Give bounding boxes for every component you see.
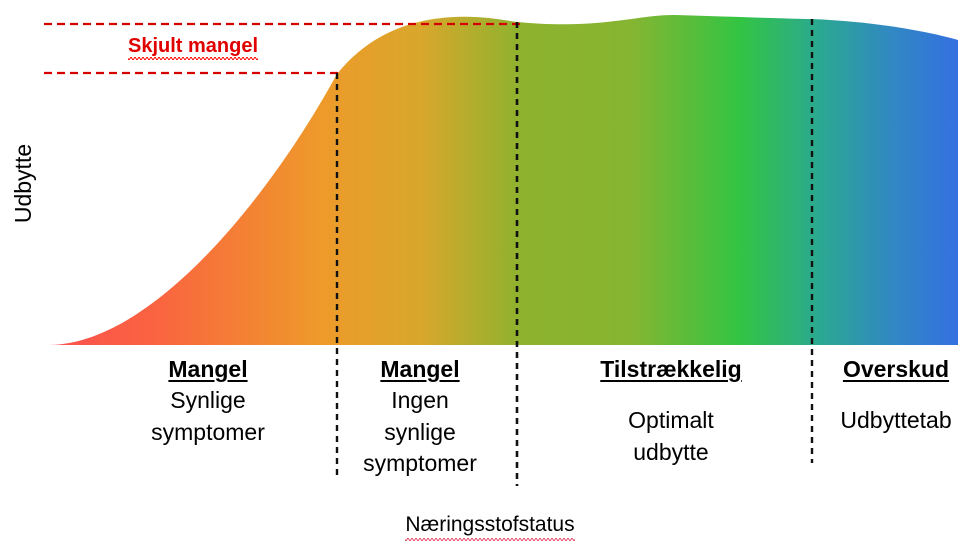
zone-subline: Synlige [118,385,298,417]
zone-caption-tilstraekkelig: Tilstrækkelig Optimalt udbytte [540,355,802,468]
zone-caption-mangel-synlige: Mangel Synlige symptomer [118,355,298,448]
zone-subline: symptomer [118,417,298,449]
zone-title: Overskud [812,355,980,385]
zone-title: Tilstrækkelig [540,355,802,385]
x-axis-label: Næringsstofstatus [0,513,980,537]
zone-subline: Ingen [330,385,510,417]
nutrient-response-chart: Udbytte [0,0,980,553]
zone-subline: Optimalt [540,405,802,437]
zone-caption-mangel-ingen-synlige: Mangel Ingen synlige symptomer [330,355,510,480]
zone-subline: udbytte [540,437,802,469]
skjult-mangel-annotation: Skjult mangel [128,36,258,56]
zone-caption-overskud: Overskud Udbyttetab [812,355,980,437]
x-axis-label-text: Næringsstofstatus [405,513,574,537]
zone-title: Mangel [330,355,510,385]
response-curve-fill [48,15,958,345]
zone-subline: synlige [330,417,510,449]
zone-title: Mangel [118,355,298,385]
skjult-mangel-text: Skjult mangel [128,36,258,56]
zone-subline: symptomer [330,448,510,480]
zone-subline: Udbyttetab [812,405,980,437]
